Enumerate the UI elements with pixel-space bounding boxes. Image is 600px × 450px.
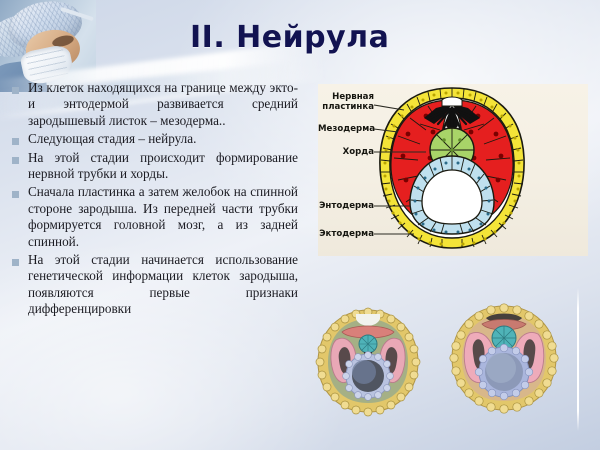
vertical-divider [577,288,579,431]
bullet-marker-icon [12,259,19,266]
list-item-text: На этой стадии происходит формирование н… [28,150,298,183]
embryo-section-left [312,306,424,418]
embryo-section-right [448,302,560,414]
page-title: II. Нейрула [190,20,450,55]
neurula-cross-section-diagram: Нервная пластинка Мезодерма Хорда Энтоде… [318,84,588,256]
label-neural-plate-line1: Нервная [322,92,374,102]
label-mesoderm: Мезодерма [318,124,374,134]
list-item: Сначала пластинка а затем желобок на спи… [12,184,298,250]
bullet-list: Из клеток находящихся на границе между э… [12,80,298,320]
label-endoderm: Энтодерма [318,201,374,211]
embryo-sections-pair [312,300,562,430]
list-item: На этой стадии начинается использование … [12,252,298,318]
surgeons-photo [0,0,96,92]
list-item: Следующая стадия – нейрула. [12,131,298,147]
list-item-text: Следующая стадия – нейрула. [28,131,298,147]
list-item-text: Из клеток находящихся на границе между э… [28,80,298,129]
bullet-marker-icon [12,157,19,164]
list-item: Из клеток находящихся на границе между э… [12,80,298,129]
bullet-marker-icon [12,191,19,198]
bullet-marker-icon [12,87,19,94]
list-item: На этой стадии происходит формирование н… [12,150,298,183]
bullet-marker-icon [12,138,19,145]
label-ectoderm: Эктодерма [318,229,374,239]
list-item-text: Сначала пластинка а затем желобок на спи… [28,184,298,250]
label-neural-plate-line2: пластинка [322,102,374,112]
list-item-text: На этой стадии начинается использование … [28,252,298,318]
label-notochord: Хорда [318,147,374,157]
slide-canvas: II. Нейрула Из клеток находящихся на гра… [0,0,600,450]
